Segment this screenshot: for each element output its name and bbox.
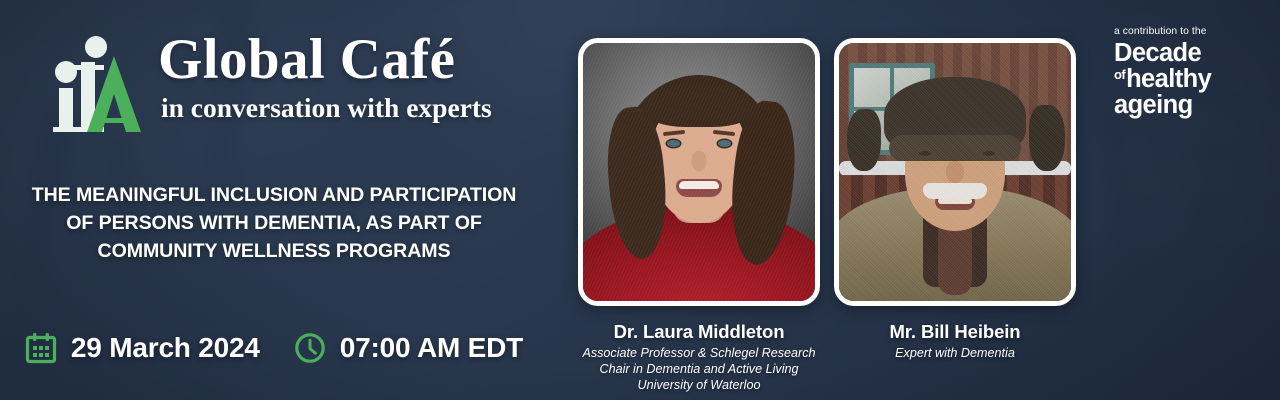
banner-content: Global Café in conversation with experts…: [0, 0, 1280, 400]
speaker-name: Mr. Bill Heibein: [834, 321, 1076, 343]
headline-line-1: THE MEANINGFUL INCLUSION AND PARTICIPATI…: [0, 182, 548, 210]
brand-text: Global Café in conversation with experts: [158, 28, 492, 123]
speaker-role-line-2: Chair in Dementia and Active Living: [578, 361, 820, 377]
ifa-logo-icon: [52, 32, 144, 136]
brand-subtitle: in conversation with experts: [161, 93, 492, 123]
decade-line-3: ageing: [1114, 92, 1262, 118]
event-meta: 29 March 2024 07:00 AM EDT: [0, 332, 548, 364]
speaker-caption: Mr. Bill Heibein Expert with Dementia: [834, 321, 1076, 361]
event-time: 07:00 AM EDT: [294, 332, 523, 364]
speaker-role-line-3: University of Waterloo: [578, 377, 820, 393]
brand-title: Global Café: [158, 32, 492, 88]
calendar-icon: [25, 332, 57, 364]
speaker-role: Expert with Dementia: [834, 345, 1076, 361]
speaker-card-2: Mr. Bill Heibein Expert with Dementia: [834, 38, 1076, 361]
brand-lockup: Global Café in conversation with experts: [52, 28, 492, 136]
webinar-banner: Global Café in conversation with experts…: [0, 0, 1280, 400]
decade-kicker: a contribution to the: [1114, 26, 1262, 38]
speaker-caption: Dr. Laura Middleton Associate Professor …: [578, 321, 820, 393]
speaker-role-line-1: Expert with Dementia: [834, 345, 1076, 361]
event-date: 29 March 2024: [25, 332, 260, 364]
decade-line-1: Decade: [1114, 41, 1262, 66]
decade-wordmark: Decade of healthy ageing: [1114, 41, 1262, 118]
decade-of: of: [1114, 68, 1125, 81]
headline-line-3: COMMUNITY WELLNESS PROGRAMS: [0, 238, 548, 266]
decade-line-2: of healthy: [1114, 66, 1262, 92]
speaker-photo-laura-middleton: [583, 43, 815, 301]
event-time-label: 07:00 AM EDT: [340, 332, 523, 364]
decade-healthy: healthy: [1126, 66, 1211, 92]
speaker-role-line-1: Associate Professor & Schlegel Research: [578, 345, 820, 361]
event-date-label: 29 March 2024: [71, 332, 260, 364]
speaker-photo-bill-heibein: [839, 43, 1071, 301]
speaker-role: Associate Professor & Schlegel Research …: [578, 345, 820, 393]
clock-icon: [294, 332, 326, 364]
decade-of-healthy-ageing-logo: a contribution to the Decade of healthy …: [1114, 26, 1262, 118]
speaker-name: Dr. Laura Middleton: [578, 321, 820, 343]
speaker-photo-frame: [578, 38, 820, 306]
page-title: THE MEANINGFUL INCLUSION AND PARTICIPATI…: [0, 182, 548, 265]
headline-line-2: OF PERSONS WITH DEMENTIA, AS PART OF: [0, 210, 548, 238]
speaker-photo-frame: [834, 38, 1076, 306]
speaker-card-1: Dr. Laura Middleton Associate Professor …: [578, 38, 820, 393]
